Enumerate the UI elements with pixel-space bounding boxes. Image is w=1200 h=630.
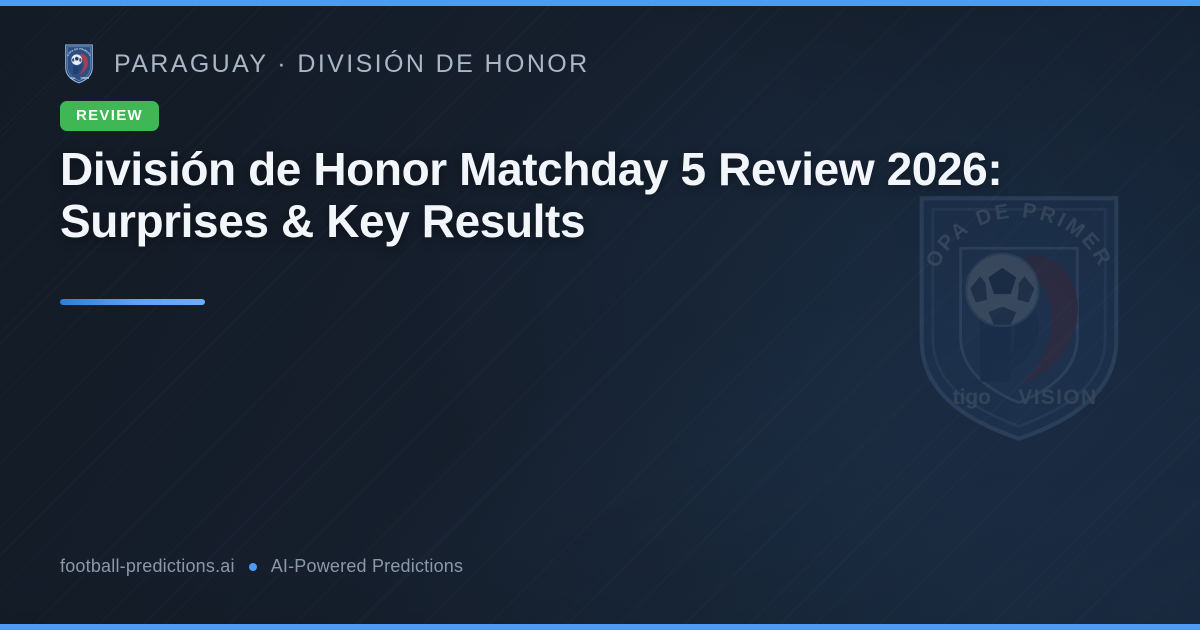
- footer-branding: football-predictions.ai AI-Powered Predi…: [60, 556, 463, 577]
- og-share-card: COPA DE PRIMERA tigo VISION: [0, 0, 1200, 630]
- status-badge: REVIEW: [60, 101, 159, 131]
- blue-dot-icon: [249, 563, 257, 571]
- site-name: football-predictions.ai: [60, 556, 235, 577]
- svg-text:VISION: VISION: [81, 77, 90, 80]
- league-breadcrumb: COPA DE PRIMERA tigo VISION PARAGUAY · D…: [60, 42, 590, 87]
- league-name-label: PARAGUAY · DIVISIÓN DE HONOR: [114, 50, 590, 79]
- league-crest-icon: COPA DE PRIMERA tigo VISION: [60, 42, 98, 87]
- page-title: División de Honor Matchday 5 Review 2026…: [60, 144, 1045, 247]
- card-content: COPA DE PRIMERA tigo VISION PARAGUAY · D…: [60, 0, 1060, 630]
- title-accent-underline: [60, 299, 205, 305]
- tagline: AI-Powered Predictions: [271, 556, 464, 577]
